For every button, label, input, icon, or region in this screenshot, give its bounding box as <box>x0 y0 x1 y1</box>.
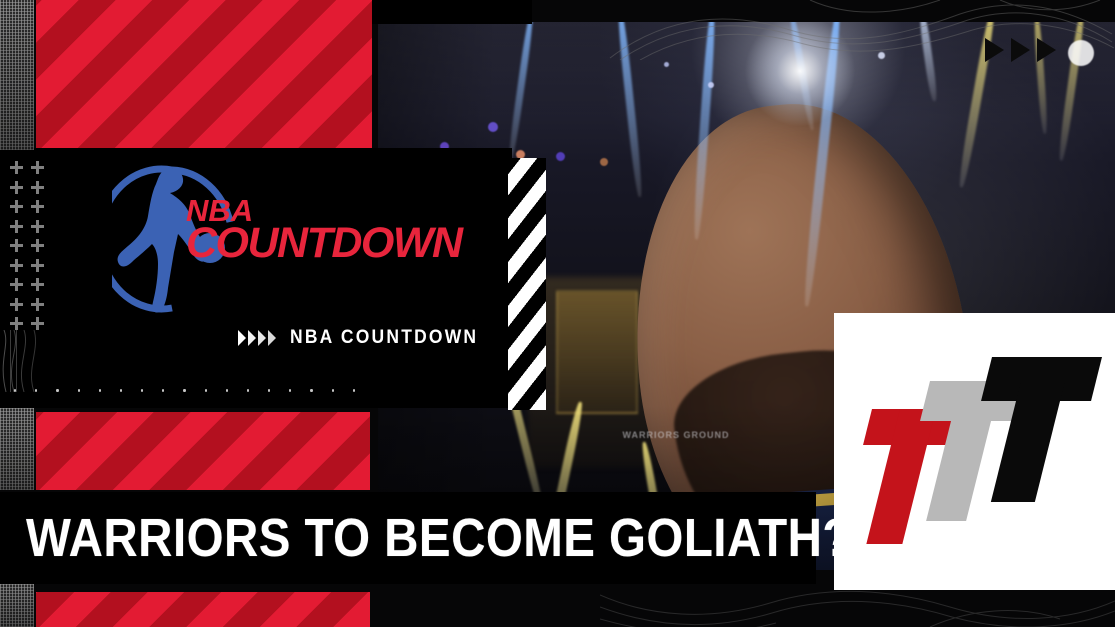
hairline-1 <box>10 330 11 392</box>
mask-top-left <box>372 0 532 24</box>
plus-cross-icon <box>10 200 23 213</box>
plus-cross-icon <box>31 181 44 194</box>
ttt-logo-graphic <box>834 313 1115 590</box>
dot <box>99 389 101 392</box>
diagonal-stripe-bar-icon <box>508 158 546 410</box>
show-strip: NBA COUNTDOWN <box>238 325 495 351</box>
dot-row <box>14 389 374 395</box>
headline-text: WARRIORS TO BECOME GOLIATH? <box>26 511 852 565</box>
plus-cross-icon <box>31 239 44 252</box>
court-signage-text: WARRIORS GROUND <box>616 430 736 441</box>
plus-cross-icon <box>31 298 44 311</box>
plus-cross-icon <box>31 200 44 213</box>
arena-light-bokeh <box>488 122 498 132</box>
dot <box>205 389 207 392</box>
plus-cross-icon <box>10 239 23 252</box>
plus-cross-icon <box>10 317 23 330</box>
plus-cross-icon <box>31 161 44 174</box>
plus-cross-icon <box>31 220 44 233</box>
plus-cross-icon <box>31 259 44 272</box>
plus-cross-icon <box>31 317 44 330</box>
plus-cross-icon <box>10 298 23 311</box>
dot <box>141 389 143 392</box>
ttt-logo <box>834 313 1115 590</box>
dot <box>183 389 185 392</box>
plus-cross-icon <box>10 278 23 291</box>
hairline-2 <box>16 330 17 392</box>
texture-block-mid <box>0 408 34 490</box>
red-stripe-block-top <box>36 0 372 148</box>
texture-block-bottom <box>0 578 34 627</box>
dot <box>268 389 270 392</box>
nba-countdown-wordmark: NBA COUNTDOWN <box>186 198 462 262</box>
headline-bar: WARRIORS TO BECOME GOLIATH? <box>0 492 816 584</box>
dot <box>35 389 37 392</box>
arena-light-bokeh <box>556 152 565 161</box>
dot <box>78 389 80 392</box>
arena-light-bokeh <box>708 82 714 88</box>
dot <box>56 389 58 392</box>
topo-lines-top <box>600 0 1115 60</box>
plus-pattern-grid <box>6 158 48 336</box>
wordmark-countdown: COUNTDOWN <box>186 225 462 262</box>
squiggle-lines <box>0 330 50 392</box>
dot <box>289 389 291 392</box>
texture-block-top <box>0 0 34 150</box>
confetti-streamer <box>507 22 535 161</box>
topo-lines-bottom <box>600 585 1115 627</box>
dot <box>310 389 312 392</box>
arena-light-bokeh <box>600 158 608 166</box>
dot <box>247 389 249 392</box>
plus-cross-icon <box>31 278 44 291</box>
plus-cross-icon <box>10 161 23 174</box>
arena-light-bokeh <box>664 62 669 67</box>
double-chevron-right-icon <box>238 330 276 346</box>
show-name-label: NBA COUNTDOWN <box>290 327 478 349</box>
video-thumbnail: WARRIORS GROUND NBA COUNTDOWN <box>0 0 1115 627</box>
dot <box>226 389 228 392</box>
plus-cross-icon <box>10 220 23 233</box>
plus-cross-icon <box>10 181 23 194</box>
red-stripe-block-bottom <box>36 592 370 627</box>
arena-banner-1 <box>556 290 638 414</box>
dot <box>162 389 164 392</box>
dot <box>14 389 16 392</box>
dot <box>353 389 355 392</box>
dot <box>332 389 334 392</box>
dot <box>120 389 122 392</box>
plus-cross-icon <box>10 259 23 272</box>
red-stripe-block-mid <box>36 412 370 490</box>
